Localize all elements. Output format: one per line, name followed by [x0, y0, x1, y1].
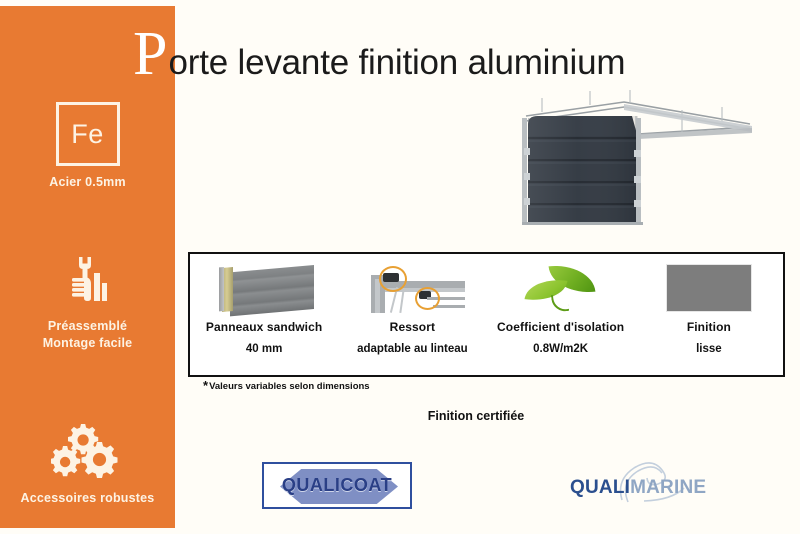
- feature-title: Ressort: [390, 320, 435, 334]
- certification-title: Finition certifiée: [0, 409, 800, 423]
- finish-color-swatch: [666, 262, 752, 314]
- page-title-rest: orte levante finition aluminium: [168, 41, 625, 85]
- footnote-star: *: [203, 381, 208, 390]
- feature-value: adaptable au linteau: [357, 343, 468, 355]
- sidebar-item-acier: Fe Acier 0.5mm: [0, 102, 175, 189]
- feature-panneaux-sandwich: Panneaux sandwich 40 mm: [190, 254, 338, 375]
- feature-ressort: Ressort adaptable au linteau: [338, 254, 486, 375]
- feature-title: Panneaux sandwich: [206, 320, 322, 334]
- page-title-initial: P: [133, 26, 167, 82]
- qualicoat-logo-text: QUALICOAT: [282, 475, 392, 496]
- sidebar-caption-accessoires: Accessoires robustes: [0, 491, 175, 505]
- gears-icon: [0, 420, 175, 482]
- feature-value: 40 mm: [246, 343, 282, 355]
- footnote-text: Valeurs variables selon dimensions: [209, 381, 370, 392]
- sidebar-caption-preassemble: Préassemblé: [0, 319, 175, 333]
- certification-title-text: Finition certifiée: [428, 409, 525, 423]
- sidebar-caption-montage: Montage facile: [0, 336, 175, 350]
- feature-title: Coefficient d'isolation: [497, 320, 624, 334]
- green-leaves-icon: [524, 262, 598, 314]
- feature-value: lisse: [696, 343, 722, 355]
- sidebar-caption-acier: Acier 0.5mm: [0, 175, 175, 189]
- qualimarine-text-marine: MARINE: [630, 477, 706, 498]
- sandwich-panel-image: [214, 262, 314, 314]
- qualimarine-logo-text: QUALIMARINE: [570, 477, 706, 499]
- page-root: Fe Acier 0.5mm: [0, 0, 800, 534]
- feature-value: 0.8W/m2K: [533, 343, 588, 355]
- features-panel: Panneaux sandwich 40 mm: [188, 252, 785, 377]
- fe-element-icon: Fe: [56, 102, 120, 166]
- qualicoat-logo: QUALICOAT: [262, 462, 412, 509]
- sectional-garage-door-photo: [512, 88, 762, 233]
- qualimarine-logo: QUALIMARINE: [562, 462, 712, 509]
- sidebar-item-accessoires: Accessoires robustes: [0, 420, 175, 505]
- fe-symbol: Fe: [71, 121, 104, 148]
- feature-title: Finition: [687, 320, 731, 334]
- page-title: P orte levante finition aluminium: [133, 26, 625, 82]
- footnote: * Valeurs variables selon dimensions: [203, 381, 370, 392]
- wrench-tools-icon: [0, 248, 175, 310]
- qualimarine-text-quali: QUALI: [570, 477, 630, 498]
- sidebar-item-preassemble: Préassemblé Montage facile: [0, 248, 175, 350]
- feature-finition: Finition lisse: [635, 254, 783, 375]
- spring-mechanism-image: [359, 262, 465, 314]
- feature-coefficient-isolation: Coefficient d'isolation 0.8W/m2K: [487, 254, 635, 375]
